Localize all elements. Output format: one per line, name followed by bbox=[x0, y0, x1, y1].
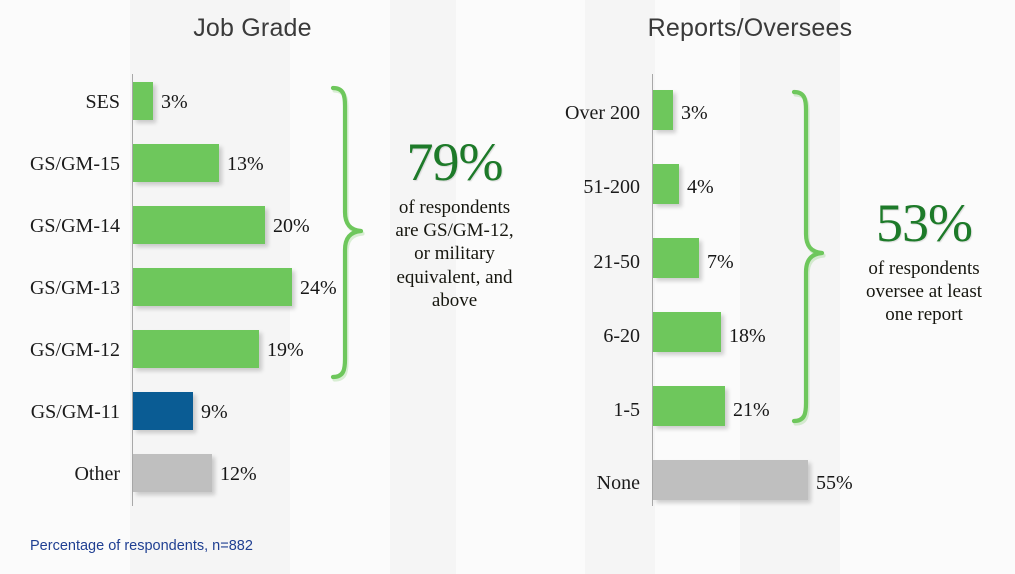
value-label-21-50: 7% bbox=[707, 252, 734, 272]
category-label-gsgm13: GS/GM-13 bbox=[0, 278, 120, 298]
category-label-51-200: 51-200 bbox=[515, 177, 640, 197]
category-label-other: Other bbox=[0, 464, 120, 484]
category-label-6-20: 6-20 bbox=[515, 326, 640, 346]
brace-job-grade bbox=[324, 80, 368, 385]
value-label-gsgm14: 20% bbox=[273, 216, 310, 236]
category-label-gsgm12: GS/GM-12 bbox=[0, 340, 120, 360]
category-label-none: None bbox=[515, 473, 640, 493]
callout-reports-oversees: 53% of respondents oversee at least one … bbox=[838, 196, 1010, 327]
panel-reports-oversees: Reports/Oversees Over 200 51-200 21-50 6… bbox=[505, 0, 1015, 574]
callout-line: one report bbox=[838, 303, 1010, 326]
footnote-respondents: Percentage of respondents, n=882 bbox=[30, 538, 253, 554]
bar-over-200 bbox=[653, 90, 673, 130]
category-label-gsgm14: GS/GM-14 bbox=[0, 216, 120, 236]
bar-none bbox=[653, 460, 808, 500]
category-label-over-200: Over 200 bbox=[515, 103, 640, 123]
panel-job-grade: Job Grade SES GS/GM-15 GS/GM-14 GS/GM-13… bbox=[0, 0, 505, 574]
value-label-over-200: 3% bbox=[681, 103, 708, 123]
callout-highlight-53: 53% bbox=[838, 196, 1010, 250]
value-label-gsgm11: 9% bbox=[201, 402, 228, 422]
callout-line: oversee at least bbox=[838, 280, 1010, 303]
bar-gsgm11 bbox=[133, 392, 193, 430]
value-label-other: 12% bbox=[220, 464, 257, 484]
brace-reports-oversees bbox=[785, 84, 829, 429]
bar-1-5 bbox=[653, 386, 725, 426]
bar-21-50 bbox=[653, 238, 699, 278]
category-label-gsgm15: GS/GM-15 bbox=[0, 154, 120, 174]
bar-51-200 bbox=[653, 164, 679, 204]
callout-line: of respondents bbox=[838, 257, 1010, 280]
y-axis-line-reports-oversees bbox=[652, 74, 653, 506]
value-label-gsgm15: 13% bbox=[227, 154, 264, 174]
bar-gsgm12 bbox=[133, 330, 259, 368]
bar-gsgm14 bbox=[133, 206, 265, 244]
bar-gsgm13 bbox=[133, 268, 292, 306]
value-label-51-200: 4% bbox=[687, 177, 714, 197]
category-label-21-50: 21-50 bbox=[515, 252, 640, 272]
bar-6-20 bbox=[653, 312, 721, 352]
bar-other bbox=[133, 454, 212, 492]
category-label-ses: SES bbox=[0, 92, 120, 112]
category-label-gsgm11: GS/GM-11 bbox=[0, 402, 120, 422]
chart-title-job-grade: Job Grade bbox=[0, 14, 505, 43]
value-label-6-20: 18% bbox=[729, 326, 766, 346]
bar-ses bbox=[133, 82, 153, 120]
infographic-canvas: Job Grade SES GS/GM-15 GS/GM-14 GS/GM-13… bbox=[0, 0, 1015, 574]
callout-body-reports-oversees: of respondents oversee at least one repo… bbox=[838, 257, 1010, 327]
value-label-ses: 3% bbox=[161, 92, 188, 112]
value-label-none: 55% bbox=[816, 473, 853, 493]
bar-gsgm15 bbox=[133, 144, 219, 182]
chart-title-reports-oversees: Reports/Oversees bbox=[495, 14, 1005, 43]
value-label-1-5: 21% bbox=[733, 400, 770, 420]
value-label-gsgm12: 19% bbox=[267, 340, 304, 360]
category-label-1-5: 1-5 bbox=[515, 400, 640, 420]
